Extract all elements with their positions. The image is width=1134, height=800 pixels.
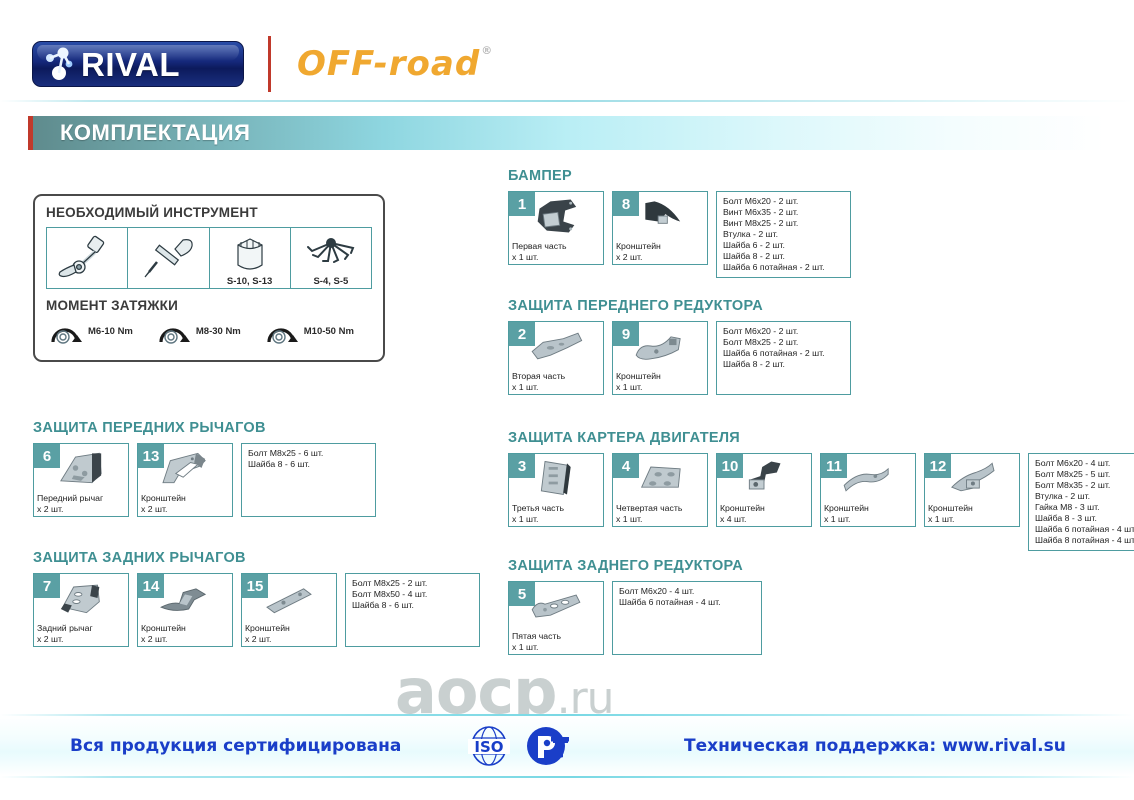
hardware-item: Шайба 8 - 6 шт. xyxy=(352,600,473,611)
flat-plate-icon xyxy=(509,324,603,368)
registered-icon: ® xyxy=(481,44,493,57)
part-quantity: х 1 шт. xyxy=(616,514,705,524)
long-flat-plate-icon xyxy=(509,584,603,628)
part-card[interactable]: 13Кронштейнх 2 шт. xyxy=(137,443,233,517)
brand-header: RIVAL OFF-road® xyxy=(32,36,480,92)
hardware-item: Шайба 8 - 2 шт. xyxy=(723,251,844,262)
part-caption: Третья частьх 1 шт. xyxy=(512,503,601,524)
rival-wordmark: RIVAL xyxy=(81,48,180,81)
hardware-list: Болт М6х20 - 4 шт.Болт М8х25 - 5 шт.Болт… xyxy=(1028,453,1134,551)
part-name: Кронштейн xyxy=(928,503,1017,513)
bracket-c-shape-icon xyxy=(509,194,603,238)
hardware-item: Втулка - 2 шт. xyxy=(1035,491,1134,502)
section-title: БАМПЕР xyxy=(508,168,851,184)
hardware-list: Болт М6х20 - 2 шт.Болт М8х25 - 2 шт.Шайб… xyxy=(716,321,851,395)
torque-label-m6: M6-10 Nm xyxy=(88,326,133,337)
tool-cell-socket: S-10, S-13 xyxy=(210,228,291,288)
screwdriver-icon xyxy=(135,232,201,284)
torque-arrow-icon xyxy=(265,318,299,344)
part-caption: Кронштейнх 1 шт. xyxy=(824,503,913,524)
part-caption: Кронштейнх 2 шт. xyxy=(141,493,230,514)
part-caption: Вторая частьх 1 шт. xyxy=(512,371,601,392)
section-card-row: 3Третья частьх 1 шт.4Четвертая частьх 1 … xyxy=(508,453,1134,551)
section-front-arms: ЗАЩИТА ПЕРЕДНИХ РЫЧАГОВ6Передний рычагх … xyxy=(33,420,376,517)
part-quantity: х 2 шт. xyxy=(37,504,126,514)
tool-cell-screwdriver xyxy=(128,228,209,288)
u-plate-icon xyxy=(34,576,128,620)
page-title-bar: КОМПЛЕКТАЦИЯ xyxy=(28,116,1106,150)
section-card-row: 5Пятая частьх 1 шт.Болт М6х20 - 4 шт.Шай… xyxy=(508,581,762,655)
section-title: ЗАЩИТА ЗАДНЕГО РЕДУКТОРА xyxy=(508,558,762,574)
hardware-item: Болт М6х20 - 4 шт. xyxy=(619,586,755,597)
hardware-item: Шайба 8 - 3 шт. xyxy=(1035,513,1134,524)
torque-item-m8: M8-30 Nm xyxy=(157,318,241,344)
hardware-item: Болт М8х25 - 2 шт. xyxy=(723,337,844,348)
hardware-item: Шайба 8 - 6 шт. xyxy=(248,459,369,470)
section-title: ЗАЩИТА ПЕРЕДНЕГО РЕДУКТОРА xyxy=(508,298,851,314)
part-quantity: х 2 шт. xyxy=(141,504,230,514)
rst-logo xyxy=(520,725,572,767)
hardware-item: Шайба 8 - 2 шт. xyxy=(723,359,844,370)
ratchet-wrench-icon xyxy=(54,232,120,284)
part-name: Четвертая часть xyxy=(616,503,705,513)
section-title: ЗАЩИТА ЗАДНИХ РЫЧАГОВ xyxy=(33,550,480,566)
hardware-item: Винт М8х25 - 2 шт. xyxy=(723,218,844,229)
svg-text:ISO: ISO xyxy=(474,738,503,756)
torque-arrow-icon xyxy=(49,318,83,344)
section-card-row: 7Задний рычагх 2 шт.14Кронштейнх 2 шт.15… xyxy=(33,573,480,647)
part-name: Кронштейн xyxy=(616,371,705,381)
part-quantity: х 1 шт. xyxy=(512,514,601,524)
part-name: Кронштейн xyxy=(141,623,230,633)
hardware-list: Болт М8х25 - 6 шт.Шайба 8 - 6 шт. xyxy=(241,443,376,517)
socket-icon xyxy=(222,235,278,281)
torque-label-m8: M8-30 Nm xyxy=(196,326,241,337)
offroad-text: OFF-road xyxy=(297,44,480,84)
long-perforated-icon xyxy=(509,456,603,500)
part-quantity: х 2 шт. xyxy=(616,252,705,262)
footer-rule-bottom xyxy=(0,776,1134,778)
hardware-item: Болт М6х20 - 2 шт. xyxy=(723,196,844,207)
hardware-item: Болт М6х20 - 4 шт. xyxy=(1035,458,1134,469)
part-caption: Передний рычагх 2 шт. xyxy=(37,493,126,514)
part-quantity: х 2 шт. xyxy=(141,634,230,644)
hardware-item: Болт М8х25 - 6 шт. xyxy=(248,448,369,459)
part-card[interactable]: 12Кронштейнх 1 шт. xyxy=(924,453,1020,527)
trapezoid-plate-icon xyxy=(613,456,707,500)
hardware-item: Шайба 6 потайная - 2 шт. xyxy=(723,262,844,273)
torque-label-m10: M10-50 Nm xyxy=(304,326,354,337)
part-caption: Четвертая частьх 1 шт. xyxy=(616,503,705,524)
part-caption: Кронштейнх 2 шт. xyxy=(141,623,230,644)
iso-logo: ISO xyxy=(466,725,512,767)
hardware-list: Болт М8х25 - 2 шт.Болт М8х50 - 4 шт.Шайб… xyxy=(345,573,480,647)
hardware-item: Болт М6х20 - 2 шт. xyxy=(723,326,844,337)
part-quantity: х 1 шт. xyxy=(928,514,1017,524)
header-rule xyxy=(0,100,1134,102)
torque-item-m6: M6-10 Nm xyxy=(49,318,133,344)
molecule-icon xyxy=(39,42,83,86)
part-name: Задний рычаг xyxy=(37,623,126,633)
section-bumper: БАМПЕР1Первая частьх 1 шт.8Кронштейнх 2 … xyxy=(508,168,851,278)
part-card[interactable]: 1Первая частьх 1 шт. xyxy=(508,191,604,265)
section-card-row: 6Передний рычагх 2 шт.13Кронштейнх 2 шт.… xyxy=(33,443,376,517)
tool-cell-ratchet xyxy=(47,228,128,288)
section-title: ЗАЩИТА КАРТЕРА ДВИГАТЕЛЯ xyxy=(508,430,1134,446)
page-footer: Вся продукция сертифицирована ISO Технич… xyxy=(0,716,1134,776)
hardware-item: Болт М8х50 - 4 шт. xyxy=(352,589,473,600)
part-caption: Первая частьх 1 шт. xyxy=(512,241,601,262)
part-card[interactable]: 9Кронштейнх 1 шт. xyxy=(612,321,708,395)
part-caption: Кронштейнх 1 шт. xyxy=(616,371,705,392)
part-quantity: х 1 шт. xyxy=(512,642,601,652)
section-front-gearbox: ЗАЩИТА ПЕРЕДНЕГО РЕДУКТОРА2Вторая частьх… xyxy=(508,298,851,395)
part-name: Кронштейн xyxy=(720,503,809,513)
hardware-list: Болт М6х20 - 2 шт.Винт М6х35 - 2 шт.Винт… xyxy=(716,191,851,278)
hardware-list: Болт М6х20 - 4 шт.Шайба 6 потайная - 4 ш… xyxy=(612,581,762,655)
hardware-item: Шайба 6 потайная - 4 шт. xyxy=(619,597,755,608)
certification-logos: ISO xyxy=(466,725,572,767)
hardware-item: Болт М8х25 - 5 шт. xyxy=(1035,469,1134,480)
part-quantity: х 1 шт. xyxy=(824,514,913,524)
section-title: ЗАЩИТА ПЕРЕДНИХ РЫЧАГОВ xyxy=(33,420,376,436)
part-card[interactable]: 8Кронштейнх 2 шт. xyxy=(612,191,708,265)
part-caption: Кронштейнх 1 шт. xyxy=(928,503,1017,524)
torque-title: МОМЕНТ ЗАТЯЖКИ xyxy=(46,298,372,313)
hook-plate-icon xyxy=(925,456,1019,500)
header-divider xyxy=(268,36,271,92)
thin-curve-icon xyxy=(821,456,915,500)
part-caption: Кронштейнх 2 шт. xyxy=(245,623,334,644)
torque-arrow-icon xyxy=(157,318,191,344)
torque-list: M6-10 Nm M8-30 Nm M10-50 Nm xyxy=(46,318,372,344)
hardware-item: Шайба 6 потайная - 4 шт. xyxy=(1035,524,1134,535)
part-caption: Кронштейнх 4 шт. xyxy=(720,503,809,524)
part-card[interactable]: 11Кронштейнх 1 шт. xyxy=(820,453,916,527)
part-caption: Пятая частьх 1 шт. xyxy=(512,631,601,652)
required-tools-panel: НЕОБХОДИМЫЙ ИНСТРУМЕНТ xyxy=(33,194,385,362)
part-quantity: х 2 шт. xyxy=(245,634,334,644)
hardware-item: Винт М6х35 - 2 шт. xyxy=(723,207,844,218)
part-card[interactable]: 7Задний рычагх 2 шт. xyxy=(33,573,129,647)
frame-bracket-icon xyxy=(138,446,232,490)
part-name: Кронштейн xyxy=(824,503,913,513)
hardware-item: Болт М8х25 - 2 шт. xyxy=(352,578,473,589)
bar-strip-icon xyxy=(242,576,336,620)
part-card[interactable]: 6Передний рычагх 2 шт. xyxy=(33,443,129,517)
hardware-item: Шайба 6 - 2 шт. xyxy=(723,240,844,251)
part-name: Вторая часть xyxy=(512,371,601,381)
page-title: КОМПЛЕКТАЦИЯ xyxy=(60,120,250,146)
part-card[interactable]: 3Третья частьх 1 шт. xyxy=(508,453,604,527)
hardware-item: Болт М8х35 - 2 шт. xyxy=(1035,480,1134,491)
section-engine-crankcase: ЗАЩИТА КАРТЕРА ДВИГАТЕЛЯ3Третья частьх 1… xyxy=(508,430,1134,551)
part-card[interactable]: 15Кронштейнх 2 шт. xyxy=(241,573,337,647)
certification-text: Вся продукция сертифицирована xyxy=(70,736,401,756)
support-text: Техническая поддержка: www.rival.su xyxy=(684,736,1066,756)
part-name: Кронштейн xyxy=(245,623,334,633)
part-caption: Кронштейнх 2 шт. xyxy=(616,241,705,262)
part-name: Передний рычаг xyxy=(37,493,126,503)
z-bracket-icon xyxy=(717,456,811,500)
hardware-item: Шайба 6 потайная - 2 шт. xyxy=(723,348,844,359)
part-name: Третья часть xyxy=(512,503,601,513)
tools-panel-title: НЕОБХОДИМЫЙ ИНСТРУМЕНТ xyxy=(46,205,372,220)
hardware-item: Гайка М8 - 3 шт. xyxy=(1035,502,1134,513)
part-name: Пятая часть xyxy=(512,631,601,641)
section-card-row: 2Вторая частьх 1 шт.9Кронштейнх 1 шт.Бол… xyxy=(508,321,851,395)
part-quantity: х 4 шт. xyxy=(720,514,809,524)
rival-logo: RIVAL xyxy=(32,41,244,87)
part-card[interactable]: 10Кронштейнх 4 шт. xyxy=(716,453,812,527)
part-caption: Задний рычагх 2 шт. xyxy=(37,623,126,644)
part-quantity: х 2 шт. xyxy=(37,634,126,644)
part-card[interactable]: 4Четвертая частьх 1 шт. xyxy=(612,453,708,527)
tools-grid: S-10, S-13 S-4, S-5 xyxy=(46,227,372,289)
part-quantity: х 1 шт. xyxy=(616,382,705,392)
section-rear-arms: ЗАЩИТА ЗАДНИХ РЫЧАГОВ7Задний рычагх 2 шт… xyxy=(33,550,480,647)
tool-label-hexkeys: S-4, S-5 xyxy=(291,276,371,287)
part-card[interactable]: 14Кронштейнх 2 шт. xyxy=(137,573,233,647)
hook-bracket-icon xyxy=(613,194,707,238)
hardware-item: Втулка - 2 шт. xyxy=(723,229,844,240)
section-rear-gearbox: ЗАЩИТА ЗАДНЕГО РЕДУКТОРА5Пятая частьх 1 … xyxy=(508,558,762,655)
part-quantity: х 1 шт. xyxy=(512,382,601,392)
part-name: Первая часть xyxy=(512,241,601,251)
curved-arm-icon xyxy=(613,324,707,368)
offroad-wordmark: OFF-road® xyxy=(297,44,480,84)
wavy-bracket-icon xyxy=(138,576,232,620)
torque-item-m10: M10-50 Nm xyxy=(265,318,354,344)
section-card-row: 1Первая частьх 1 шт.8Кронштейнх 2 шт.Бол… xyxy=(508,191,851,278)
tool-cell-hexkeys: S-4, S-5 xyxy=(291,228,371,288)
part-name: Кронштейн xyxy=(141,493,230,503)
part-card[interactable]: 2Вторая частьх 1 шт. xyxy=(508,321,604,395)
hardware-item: Шайба 8 потайная - 4 шт. xyxy=(1035,535,1134,546)
part-card[interactable]: 5Пятая частьх 1 шт. xyxy=(508,581,604,655)
part-quantity: х 1 шт. xyxy=(512,252,601,262)
hex-keys-icon xyxy=(298,235,364,281)
tool-label-socket: S-10, S-13 xyxy=(210,276,290,287)
wedge-plate-icon xyxy=(34,446,128,490)
part-name: Кронштейн xyxy=(616,241,705,251)
